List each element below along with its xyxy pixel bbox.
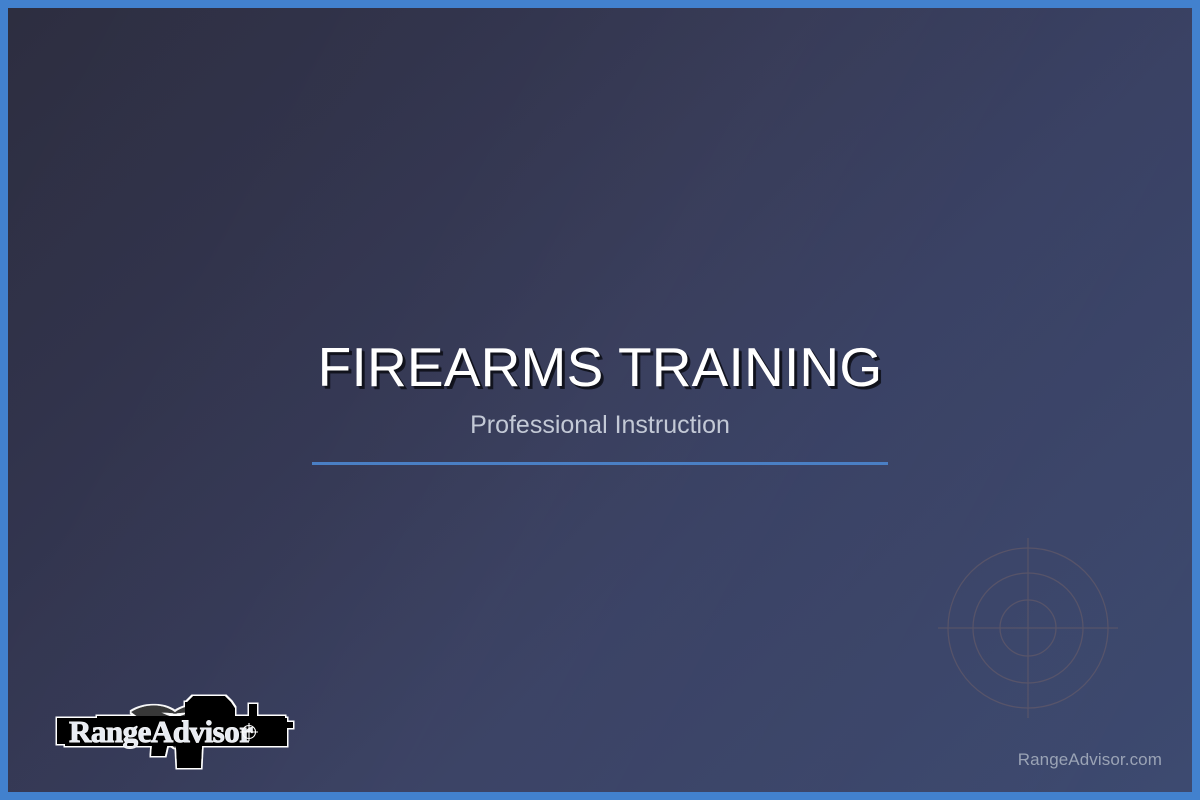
logo-wordmark: RangeAdvisor (69, 714, 253, 749)
crosshair-target-icon (928, 528, 1128, 728)
page-subtitle: Professional Instruction (8, 412, 1192, 440)
slide-frame: FIREARMS TRAINING Professional Instructi… (0, 0, 1200, 800)
title-block: FIREARMS TRAINING Professional Instructi… (8, 338, 1192, 465)
slide-canvas: FIREARMS TRAINING Professional Instructi… (8, 8, 1192, 792)
title-divider (312, 462, 888, 465)
footer-url: RangeAdvisor.com (1018, 750, 1162, 770)
brand-logo: RangeAdvisor (35, 672, 315, 772)
page-title: FIREARMS TRAINING (8, 338, 1192, 396)
